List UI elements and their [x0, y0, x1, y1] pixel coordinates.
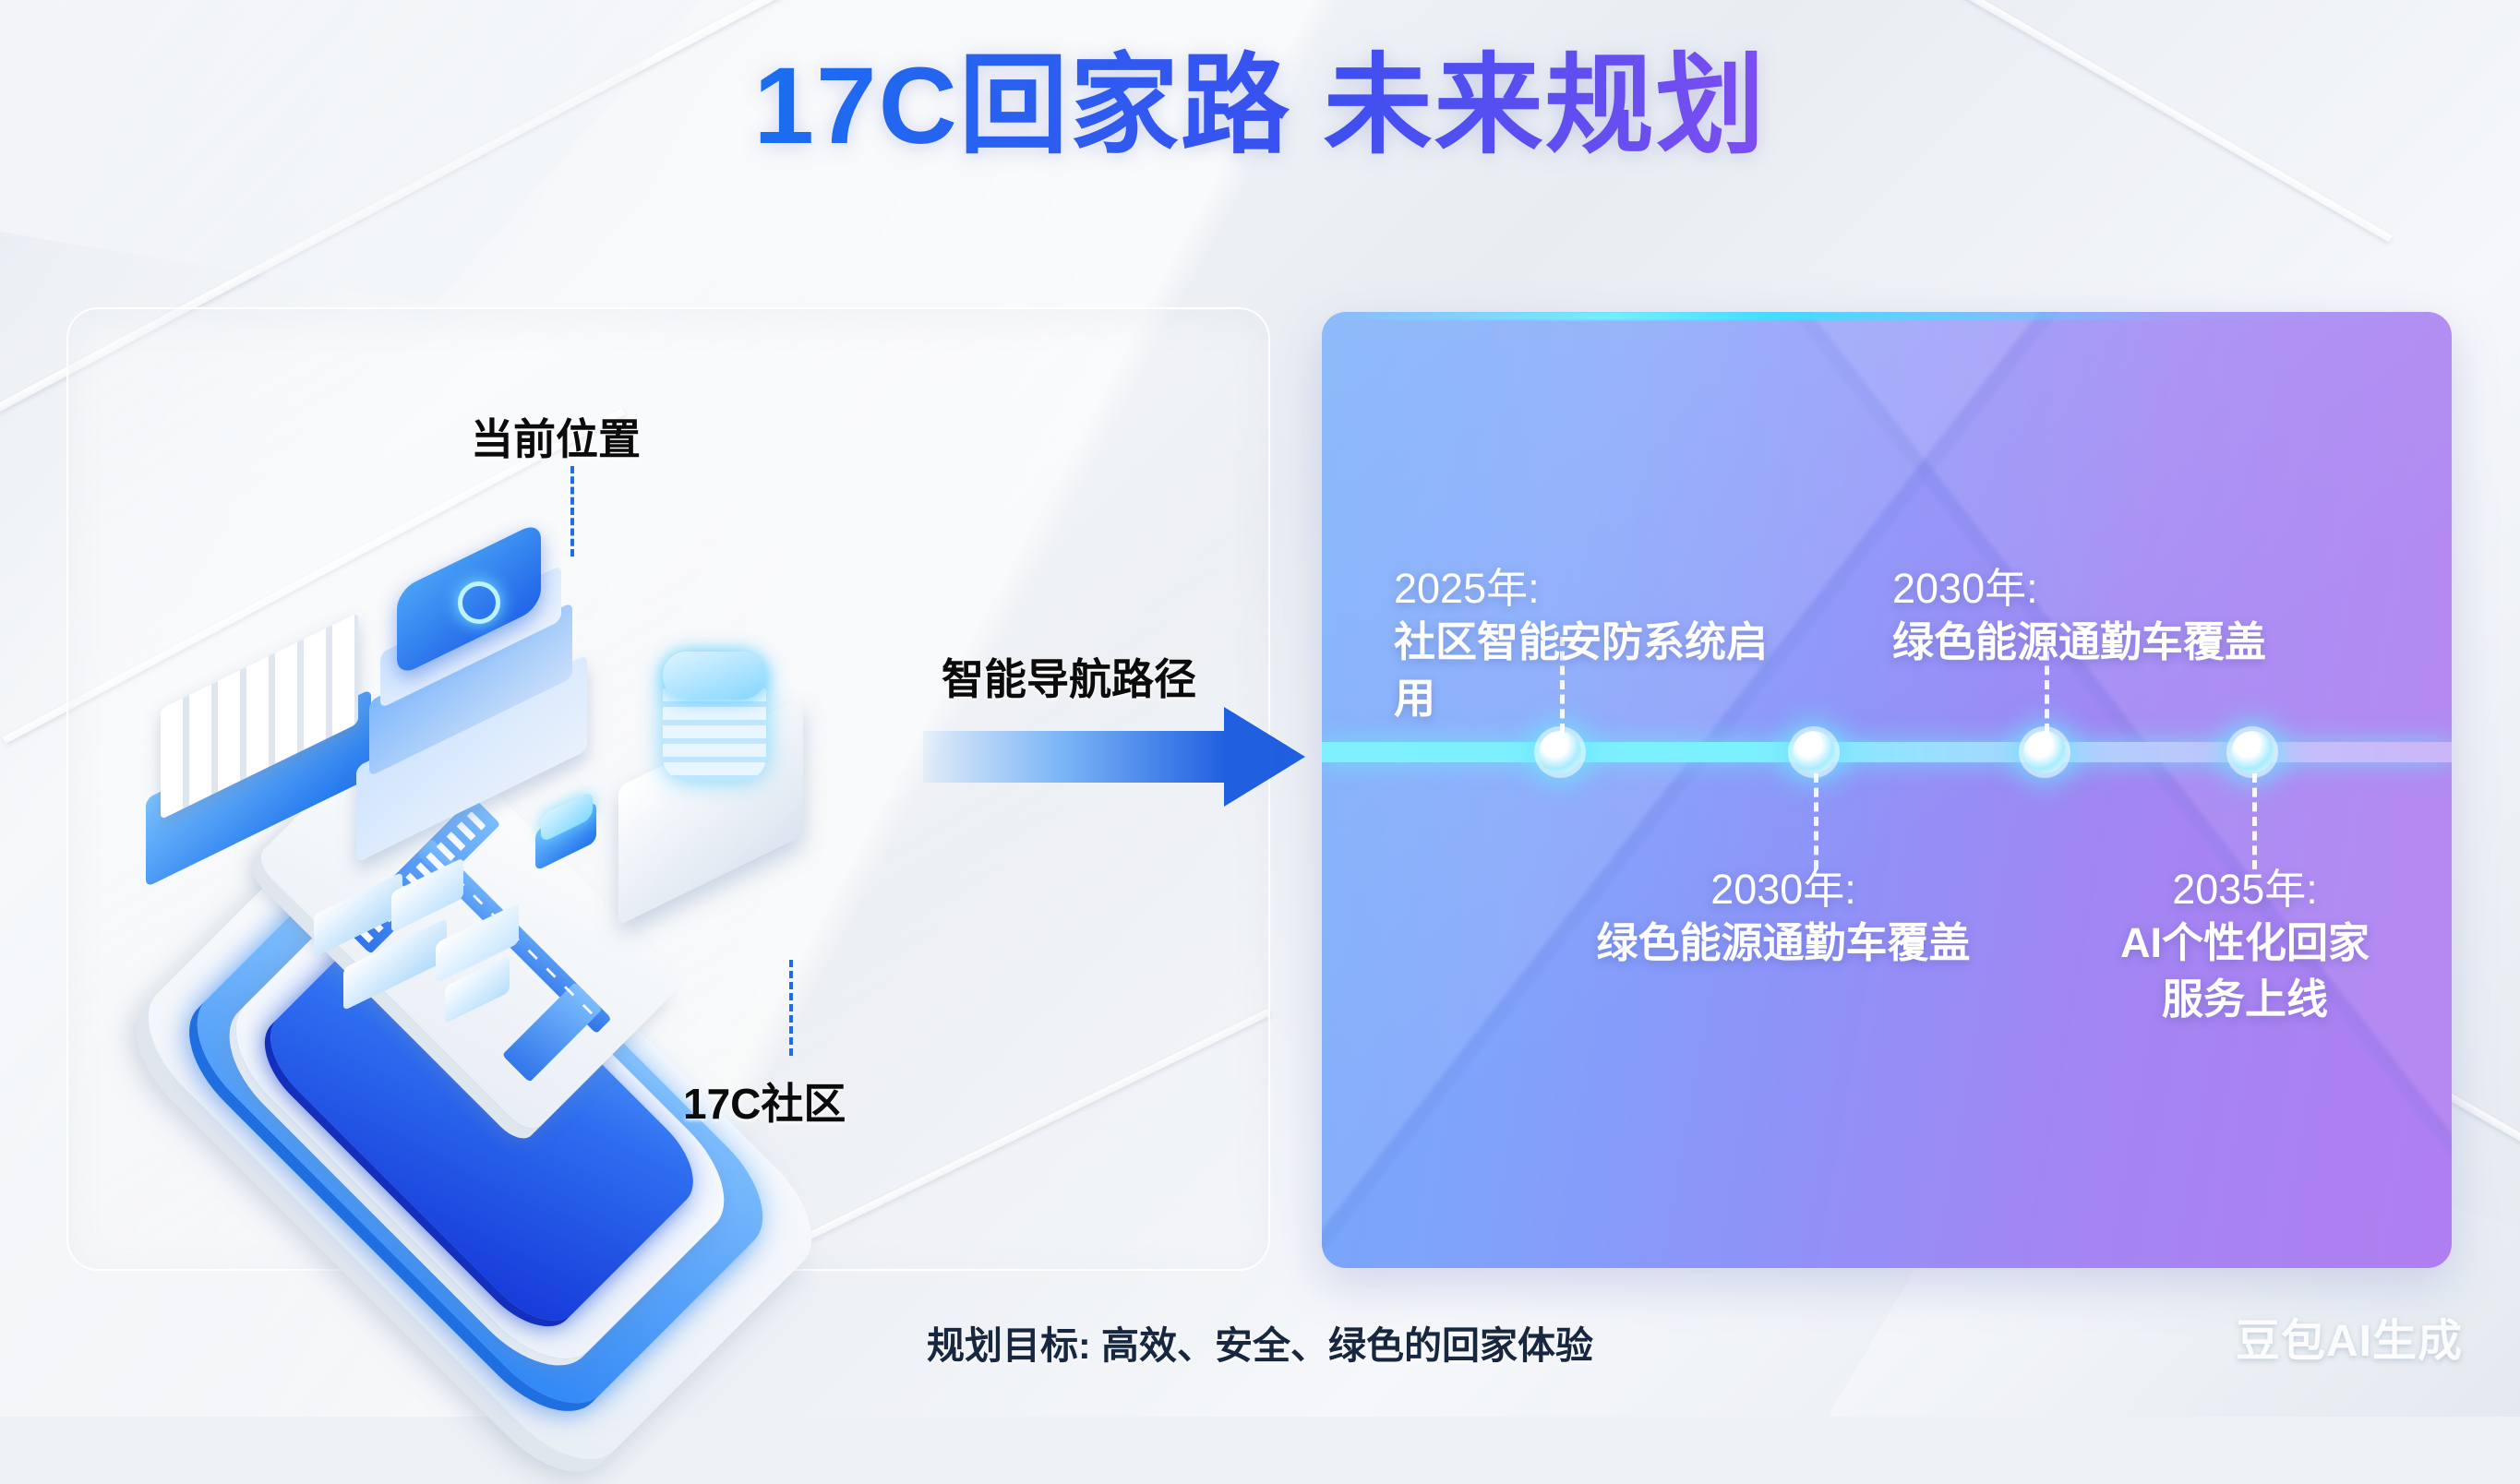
cylinder-cap [663, 652, 766, 700]
vehicle [535, 803, 609, 868]
timeline-connector-2 [1814, 773, 1818, 869]
leader-line-current-location [570, 466, 574, 556]
power-indicator-icon [458, 581, 500, 624]
timeline-item-2-desc: 绿色能源通勤车覆盖 [1562, 916, 2005, 972]
page-title: 17C回家路 未来规划 [0, 44, 2520, 170]
timeline-dot-2[interactable] [1793, 731, 1835, 773]
watermark: 豆包AI生成 [2236, 1304, 2463, 1369]
timeline-item-2-year: 2030年: [1562, 864, 2005, 916]
timeline-panel: 2025年: 社区智能安防系统启用 2030年: 绿色能源通勤车覆盖 2030年… [1322, 312, 2452, 1268]
timeline-item-2: 2030年: 绿色能源通勤车覆盖 [1562, 864, 2005, 972]
building-center-tower [356, 556, 596, 832]
leader-line-community [789, 960, 793, 1056]
timeline-item-4-year: 2035年: [2060, 864, 2430, 916]
timeline-item-3: 2030年: 绿色能源通勤车覆盖 [1892, 563, 2335, 671]
timeline-dot-1[interactable] [1539, 731, 1581, 773]
timeline-connector-4 [2252, 773, 2257, 869]
residential-blocks [282, 875, 578, 1050]
timeline-item-3-year: 2030年: [1892, 563, 2335, 615]
timeline-item-4-desc-line2: 服务上线 [2060, 972, 2430, 1028]
label-navigation-route: 智能导航路径 [942, 646, 1196, 707]
timeline-item-3-desc: 绿色能源通勤车覆盖 [1892, 615, 2335, 671]
timeline-item-4: 2035年: AI个性化回家 服务上线 [2060, 864, 2430, 1028]
isometric-city-illustration [102, 434, 914, 1172]
timeline-item-1: 2025年: 社区智能安防系统启用 [1394, 563, 1782, 727]
timeline-dot-4[interactable] [2231, 731, 2274, 773]
arrow-body [923, 731, 1228, 783]
footer-caption: 规划目标: 高效、安全、绿色的回家体验 [0, 1314, 2520, 1370]
panel-sheen [1322, 312, 2452, 1268]
building-cylinder-tower [618, 646, 822, 923]
timeline-dot-3[interactable] [2023, 731, 2066, 773]
timeline-item-1-desc: 社区智能安防系统启用 [1394, 615, 1782, 727]
timeline-axis-line [1322, 742, 2452, 762]
building-server-block [146, 655, 371, 831]
panel-top-glow [1322, 312, 2452, 320]
timeline-item-1-year: 2025年: [1394, 563, 1782, 615]
arrow-head [1224, 707, 1305, 807]
timeline-item-4-desc-line1: AI个性化回家 [2060, 916, 2430, 972]
label-current-location: 当前位置 [471, 406, 641, 467]
residential-block [314, 872, 402, 958]
label-community: 17C社区 [683, 1071, 846, 1131]
navigation-route-arrow [923, 701, 1311, 812]
